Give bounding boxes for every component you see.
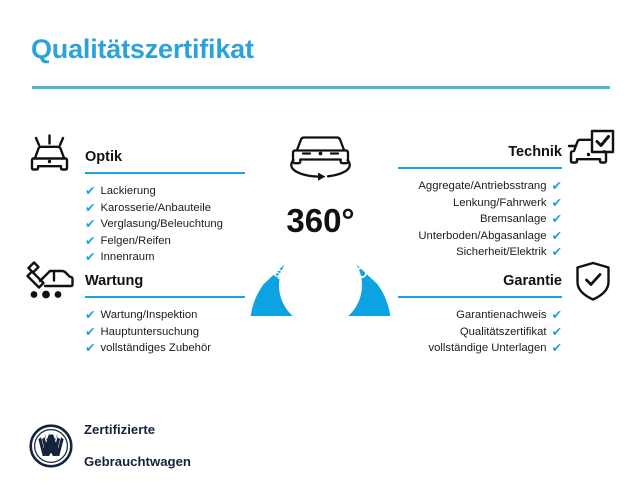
section-garantie-underline [398, 296, 562, 299]
badge-360-gebrauchtwagen-check: Gebrauchtwagen-Check 360° [228, 126, 413, 316]
footer-line-1: Zertifizierte [84, 422, 191, 438]
list-item: ✔Hauptuntersuchung [85, 324, 245, 341]
list-item: ✔Lackierung [85, 183, 245, 200]
list-item-label: vollständiges Zubehör [100, 340, 211, 357]
list-item-label: Garantienachweis [456, 307, 546, 324]
section-wartung-header: Wartung [85, 272, 245, 298]
badge-center-label: 360° [286, 202, 354, 239]
section-garantie-title: Garantie [398, 272, 562, 290]
list-item-label: Felgen/Reifen [100, 233, 170, 250]
check-icon: ✔ [552, 213, 562, 226]
footer-line-2: Gebrauchtwagen [84, 454, 191, 470]
list-item: Qualitätszertifikat✔ [398, 324, 562, 341]
check-icon: ✔ [552, 309, 562, 322]
check-icon: ✔ [85, 235, 95, 248]
section-technik-underline [398, 167, 562, 170]
list-item: ✔Wartung/Inspektion [85, 307, 245, 324]
check-icon: ✔ [85, 218, 95, 231]
list-item-label: Unterboden/Abgasanlage [418, 228, 546, 245]
list-item-label: Lenkung/Fahrwerk [453, 195, 547, 212]
check-icon: ✔ [85, 202, 95, 215]
check-icon: ✔ [85, 185, 95, 198]
section-garantie-header: Garantie [398, 272, 562, 298]
check-icon: ✔ [85, 342, 95, 355]
list-item: Garantienachweis✔ [398, 307, 562, 324]
list-item-label: Innenraum [100, 249, 154, 266]
section-wartung-list: ✔Wartung/Inspektion ✔Hauptuntersuchung ✔… [85, 307, 245, 357]
check-icon: ✔ [85, 309, 95, 322]
section-garantie: Garantie Garantienachweis✔ Qualitätszert… [398, 272, 562, 357]
list-item: Unterboden/Abgasanlage✔ [398, 228, 562, 245]
list-item: ✔vollständiges Zubehör [85, 340, 245, 357]
list-item: ✔Felgen/Reifen [85, 233, 245, 250]
volkswagen-logo [29, 424, 73, 468]
certificate-page: Qualitätszertifikat Optik ✔Lackierung ✔K… [0, 0, 640, 480]
check-icon: ✔ [552, 230, 562, 243]
section-wartung: Wartung ✔Wartung/Inspektion ✔Hauptunters… [85, 272, 245, 357]
list-item: Aggregate/Antriebsstrang✔ [398, 178, 562, 195]
section-technik-title: Technik [398, 143, 562, 161]
list-item-label: Wartung/Inspektion [100, 307, 197, 324]
list-item-label: Hauptuntersuchung [100, 324, 199, 341]
section-optik-header: Optik [85, 148, 245, 174]
list-item: vollständige Unterlagen✔ [398, 340, 562, 357]
section-technik-list: Aggregate/Antriebsstrang✔ Lenkung/Fahrwe… [398, 178, 562, 261]
section-wartung-title: Wartung [85, 272, 245, 290]
car-checkbox-icon [566, 129, 616, 178]
list-item-label: Lackierung [100, 183, 155, 200]
car-rotate-360-icon [291, 138, 349, 181]
check-icon: ✔ [552, 326, 562, 339]
check-icon: ✔ [85, 251, 95, 264]
check-icon: ✔ [85, 326, 95, 339]
section-technik-header: Technik [398, 143, 562, 169]
check-icon: ✔ [552, 246, 562, 259]
list-item-label: Verglasung/Beleuchtung [100, 216, 222, 233]
section-optik-title: Optik [85, 148, 245, 166]
list-item: ✔Karosserie/Anbauteile [85, 200, 245, 217]
list-item: ✔Verglasung/Beleuchtung [85, 216, 245, 233]
section-optik: Optik ✔Lackierung ✔Karosserie/Anbauteile… [85, 148, 245, 266]
check-icon: ✔ [552, 342, 562, 355]
section-wartung-underline [85, 296, 245, 299]
section-optik-underline [85, 172, 245, 175]
list-item: Lenkung/Fahrwerk✔ [398, 195, 562, 212]
list-item-label: Sicherheit/Elektrik [456, 244, 546, 261]
list-item-label: Aggregate/Antriebsstrang [418, 178, 546, 195]
check-icon: ✔ [552, 180, 562, 193]
car-shine-icon [26, 134, 74, 183]
list-item-label: vollständige Unterlagen [428, 340, 546, 357]
footer-logo-block: Zertifizierte Gebrauchtwagen [29, 406, 191, 486]
list-item-label: Karosserie/Anbauteile [100, 200, 211, 217]
page-title: Qualitätszertifikat [31, 34, 254, 65]
list-item: Sicherheit/Elektrik✔ [398, 244, 562, 261]
header-divider [32, 86, 610, 89]
check-icon: ✔ [552, 197, 562, 210]
section-optik-list: ✔Lackierung ✔Karosserie/Anbauteile ✔Verg… [85, 183, 245, 266]
list-item-label: Qualitätszertifikat [460, 324, 547, 341]
shield-check-icon [572, 259, 614, 310]
service-book-pen-icon [24, 259, 76, 310]
section-technik: Technik Aggregate/Antriebsstrang✔ Lenkun… [398, 143, 562, 261]
section-garantie-list: Garantienachweis✔ Qualitätszertifikat✔ v… [398, 307, 562, 357]
list-item: ✔Innenraum [85, 249, 245, 266]
footer-text: Zertifizierte Gebrauchtwagen [84, 406, 191, 486]
list-item-label: Bremsanlage [480, 211, 547, 228]
list-item: Bremsanlage✔ [398, 211, 562, 228]
